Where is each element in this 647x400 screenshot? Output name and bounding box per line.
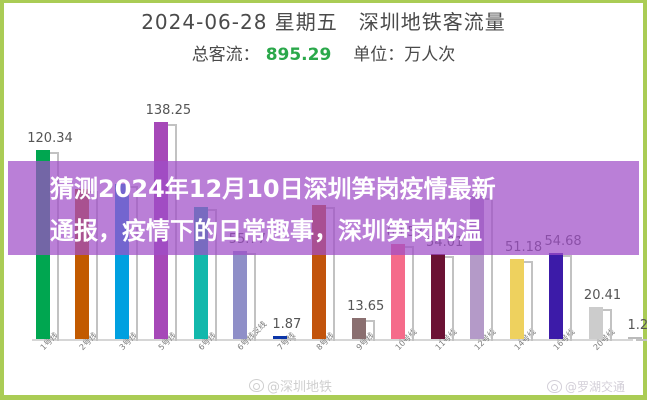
weibo-icon <box>249 379 264 392</box>
bar-fill <box>510 259 524 339</box>
overlay-headline-line-2: 通报，疫情下的日常趣事，深圳笋岗的温 <box>50 210 633 252</box>
bar-fill <box>391 244 405 339</box>
bar-value-label: 1.87 <box>261 317 313 332</box>
page-title: 2024-06-28 星期五 深圳地铁客流量 <box>4 7 643 37</box>
bar-fill <box>431 254 445 339</box>
bar-fill <box>352 318 366 339</box>
total-label: 总客流： <box>192 45 260 65</box>
weibo-watermark-center: @深圳地铁 <box>249 376 332 395</box>
bar-value-label: 13.65 <box>340 299 392 314</box>
overlay-headline-line-1: 猜测2024年12月10日深圳笋岗疫情最新 <box>50 168 633 210</box>
overlay-headline: 猜测2024年12月10日深圳笋岗疫情最新 通报，疫情下的日常趣事，深圳笋岗的温 <box>8 166 639 254</box>
bar-item: 1.24 <box>628 307 647 339</box>
unit-label: 单位：万人次 <box>353 45 455 65</box>
weibo-handle-right: @罗湖交通 <box>565 378 625 395</box>
bar-value-label: 120.34 <box>24 131 76 146</box>
chart-header: 2024-06-28 星期五 深圳地铁客流量 总客流：895.29单位：万人次 <box>4 7 643 67</box>
weibo-handle-center: @深圳地铁 <box>267 376 332 395</box>
total-value: 895.29 <box>266 45 332 65</box>
chart-subtitle: 总客流：895.29单位：万人次 <box>4 43 643 67</box>
weibo-watermark-right: @罗湖交通 <box>547 378 625 395</box>
bar-value-label: 1.24 <box>616 318 647 333</box>
weibo-icon <box>547 380 562 393</box>
image-frame: 2024-06-28 星期五 深圳地铁客流量 总客流：895.29单位：万人次 … <box>0 0 647 400</box>
bar-item: 13.65 <box>352 288 391 339</box>
bar-fill <box>589 307 603 339</box>
bar-fill <box>628 337 642 339</box>
bar-fill <box>273 336 287 339</box>
bar-value-label: 138.25 <box>142 103 194 118</box>
bar-outline <box>636 339 647 341</box>
bar-value-label: 20.41 <box>577 288 629 303</box>
bar-fill <box>549 253 563 339</box>
bar-fill <box>233 251 247 339</box>
